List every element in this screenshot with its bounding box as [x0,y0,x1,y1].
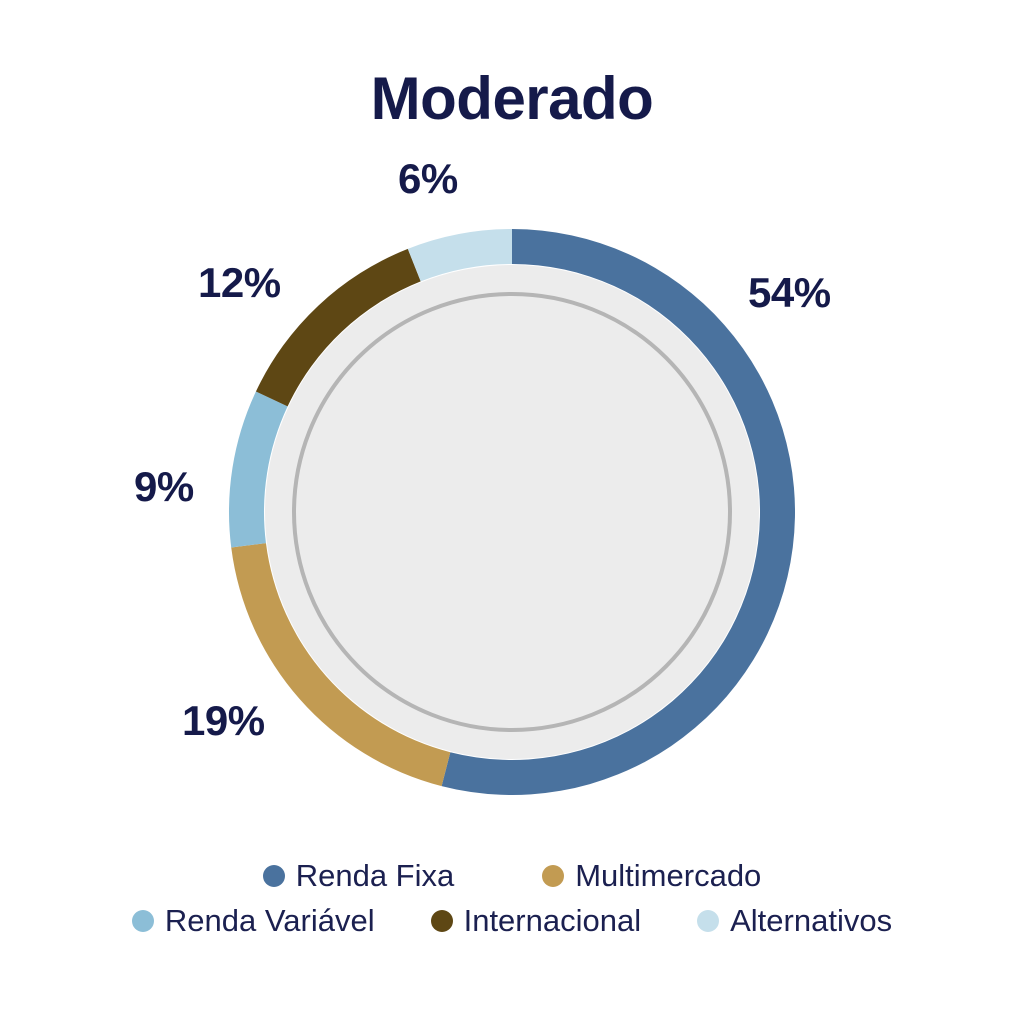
legend-swatch-icon [431,910,453,932]
legend-label: Internacional [464,905,642,936]
legend-swatch-icon [132,910,154,932]
value-label-multimercado: 19% [182,700,265,742]
donut-center-disc [265,265,759,759]
legend-swatch-icon [697,910,719,932]
legend-item-alternativos[interactable]: Alternativos [697,905,892,936]
legend-row-1: Renda Fixa Multimercado [0,860,1024,891]
value-label-renda-variavel: 9% [134,466,194,508]
value-label-renda-fixa: 54% [748,272,831,314]
legend-swatch-icon [263,865,285,887]
legend-item-multimercado[interactable]: Multimercado [542,860,761,891]
legend-item-renda-variavel[interactable]: Renda Variável [132,905,375,936]
legend-label: Multimercado [575,860,761,891]
chart-legend: Renda Fixa Multimercado Renda Variável I… [0,860,1024,936]
chart-page: Moderado 54% 6% 12% 9% 19% Renda Fixa Mu… [0,0,1024,1024]
legend-swatch-icon [542,865,564,887]
legend-item-internacional[interactable]: Internacional [431,905,642,936]
legend-row-2: Renda Variável Internacional Alternativo… [0,905,1024,936]
value-label-internacional: 12% [198,262,281,304]
legend-item-renda-fixa[interactable]: Renda Fixa [263,860,455,891]
legend-label: Alternativos [730,905,892,936]
value-label-alternativos: 6% [398,158,458,200]
legend-label: Renda Fixa [296,860,455,891]
legend-label: Renda Variável [165,905,375,936]
